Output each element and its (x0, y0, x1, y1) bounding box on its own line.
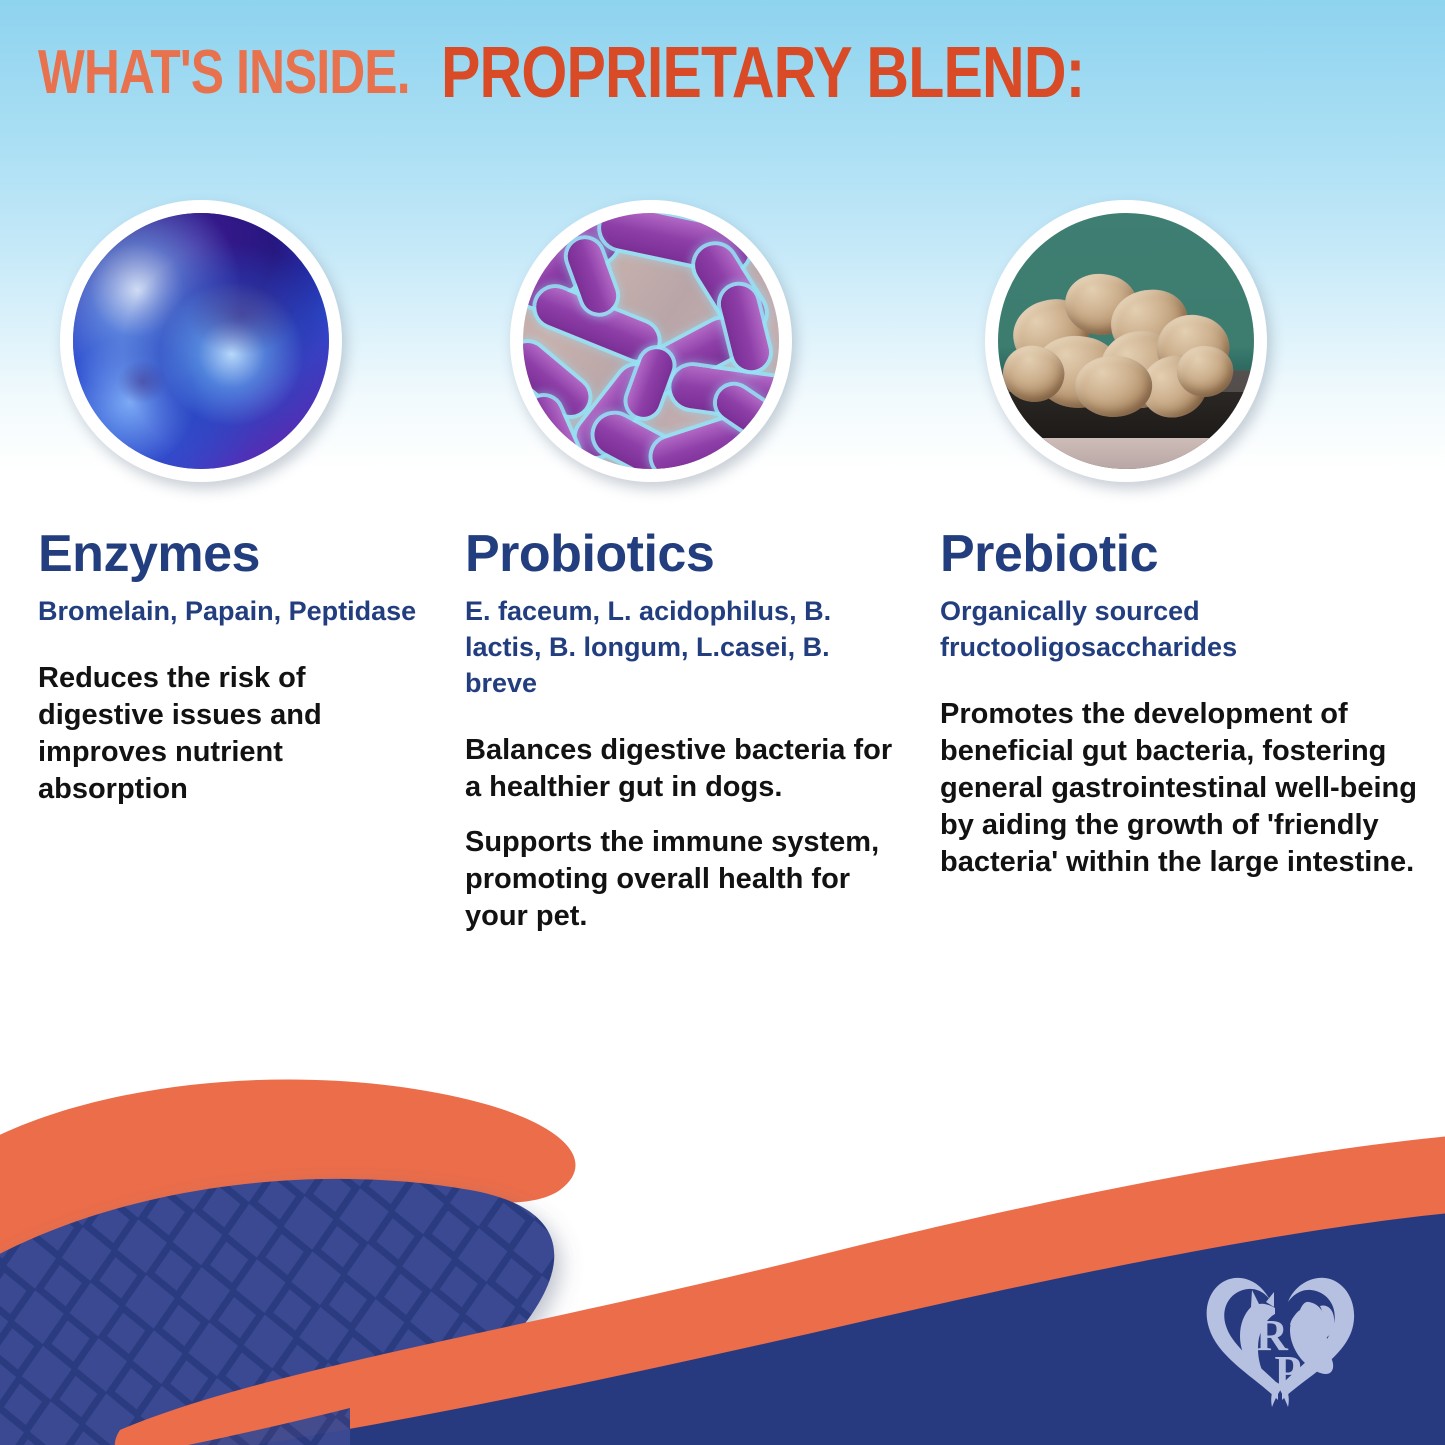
headline-part-proprietary-blend: PROPRIETARY BLEND: (441, 32, 1084, 114)
column-probiotics: Probiotics E. faceum, L. acidophilus, B.… (465, 528, 905, 953)
column-subtitle-prebiotic: Organically sourced fructooligosaccharid… (940, 594, 1440, 666)
column-paragraph-prebiotic-1: Promotes the development of beneficial g… (940, 696, 1440, 882)
bacteria-rod (717, 282, 773, 374)
image-circle-enzymes (60, 200, 342, 482)
cat-dog-heart-logo: R P (1196, 1262, 1364, 1412)
column-prebiotic: Prebiotic Organically sourced fructoolig… (940, 528, 1440, 899)
column-heading-probiotics: Probiotics (465, 528, 905, 580)
column-paragraph-enzymes-1: Reduces the risk of digestive issues and… (38, 660, 438, 808)
blueberries-photo (73, 213, 329, 469)
logo-monogram-p: P (1275, 1347, 1302, 1396)
column-paragraph-probiotics-1: Balances digestive bacteria for a health… (465, 732, 905, 806)
image-circle-prebiotic (985, 200, 1267, 482)
page-title: WHAT'S INSIDE.PROPRIETARY BLEND: (38, 28, 1225, 110)
column-enzymes: Enzymes Bromelain, Papain, Peptidase Red… (38, 528, 438, 826)
column-paragraph-probiotics-2: Supports the immune system, promoting ov… (465, 824, 905, 935)
column-heading-prebiotic: Prebiotic (940, 528, 1440, 580)
bacteria-microscopy-photo (523, 213, 779, 469)
headline-part-whats-inside: WHAT'S INSIDE. (38, 37, 410, 108)
column-subtitle-probiotics: E. faceum, L. acidophilus, B. lactis, B.… (465, 594, 905, 702)
column-heading-enzymes: Enzymes (38, 528, 438, 580)
image-circle-probiotics (510, 200, 792, 482)
jerusalem-artichoke-photo (998, 213, 1254, 469)
column-subtitle-enzymes: Bromelain, Papain, Peptidase (38, 594, 438, 630)
